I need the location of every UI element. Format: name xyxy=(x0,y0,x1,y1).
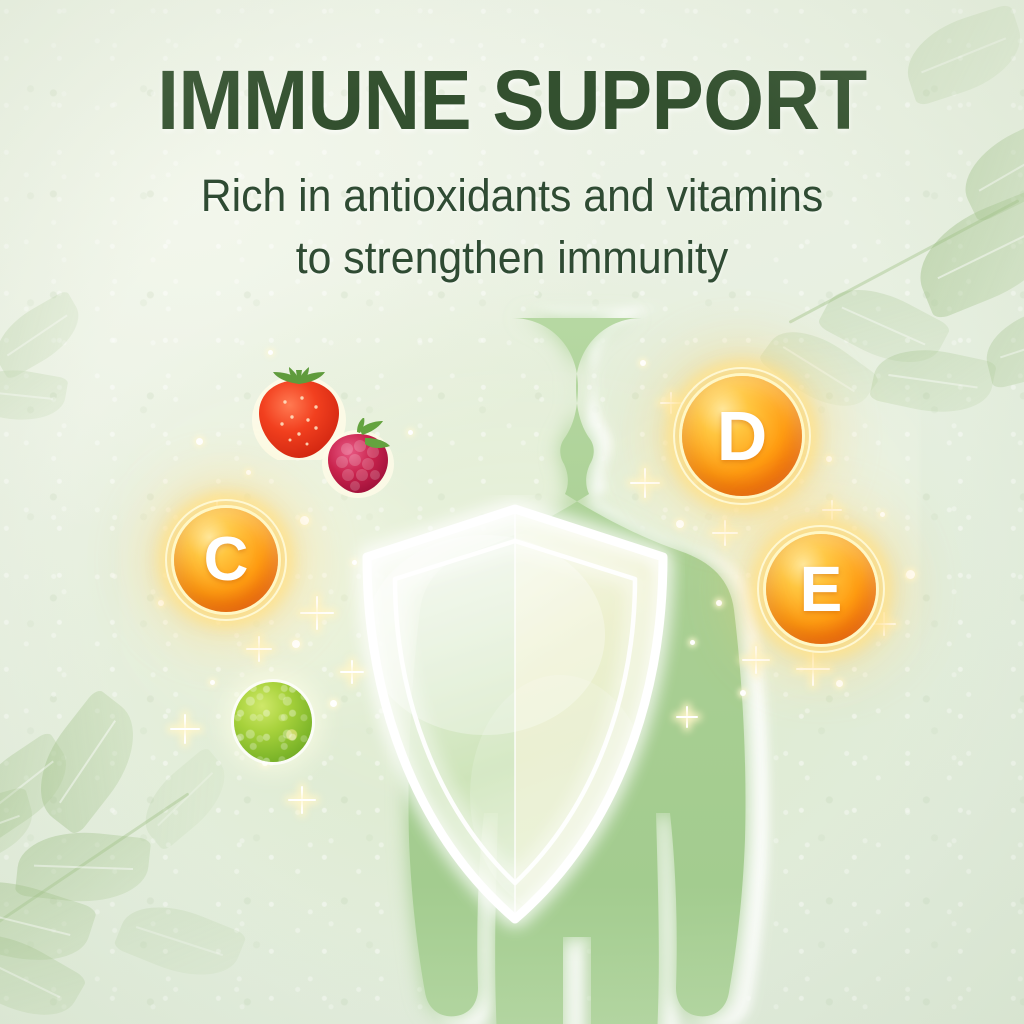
protective-shield xyxy=(345,495,685,945)
vitamin-e-orb[interactable]: E xyxy=(766,534,876,644)
page-subtitle: Rich in antioxidants and vitamins to str… xyxy=(26,165,999,289)
vitamin-d-orb[interactable]: D xyxy=(682,376,802,496)
vitamin-e-letter: E xyxy=(800,557,843,621)
page-subtitle-line-2: to strengthen immunity xyxy=(26,227,999,289)
lime-icon xyxy=(234,682,312,762)
immune-support-poster: C D E IMMUNE SUPPORT Rich in antioxidant… xyxy=(0,0,1024,1024)
raspberry-icon xyxy=(322,418,394,498)
page-title: IMMUNE SUPPORT xyxy=(36,52,988,149)
vitamin-d-letter: D xyxy=(717,401,768,471)
vitamin-c-orb[interactable]: C xyxy=(174,508,278,612)
page-subtitle-line-1: Rich in antioxidants and vitamins xyxy=(26,165,999,227)
vitamin-c-letter: C xyxy=(204,529,249,591)
